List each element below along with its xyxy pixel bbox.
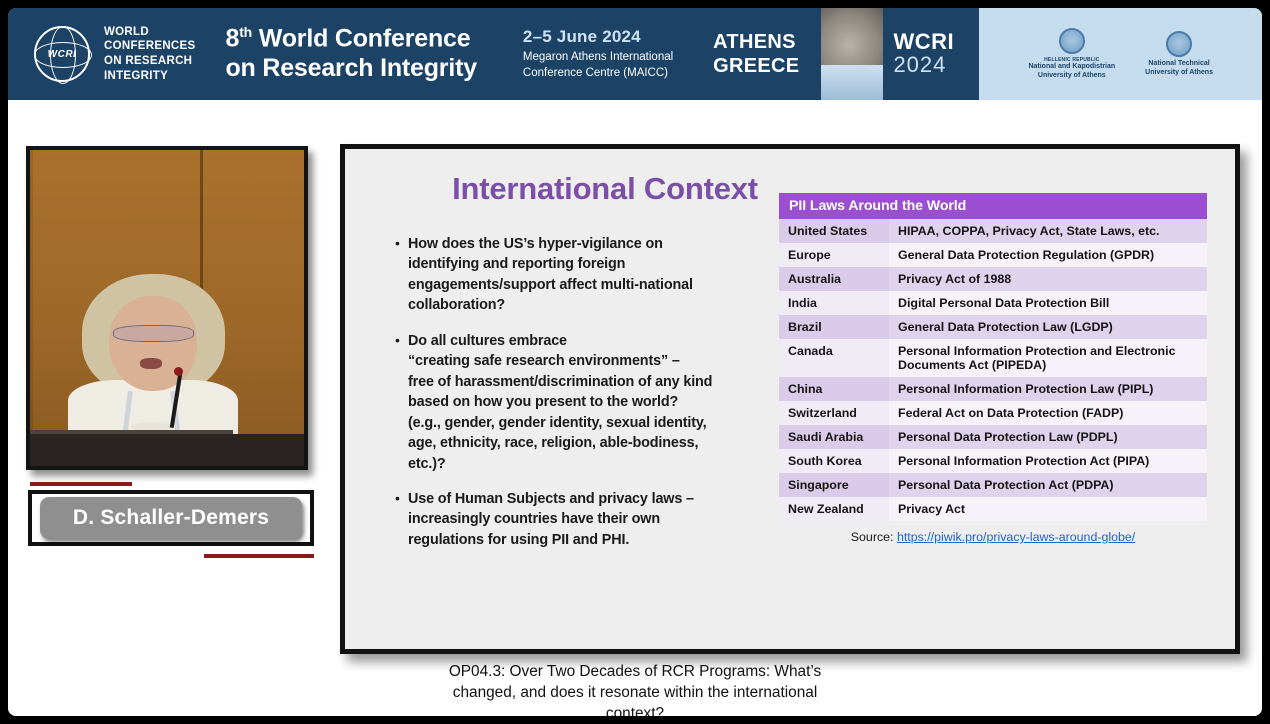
conference-banner: WCRI WORLD CONFERENCES ON RESEARCH INTEG…: [8, 8, 1262, 100]
table-cell-law: Privacy Act of 1988: [889, 267, 1207, 291]
source-link[interactable]: https://piwik.pro/privacy-laws-around-gl…: [897, 530, 1135, 544]
table-row: BrazilGeneral Data Protection Law (LGDP): [779, 315, 1207, 339]
conference-city: ATHENS GREECE: [713, 30, 799, 79]
table-cell-country: Canada: [779, 339, 889, 377]
table-cell-country: United States: [779, 219, 889, 243]
podium: [30, 434, 304, 466]
pii-table-body: United StatesHIPAA, COPPA, Privacy Act, …: [779, 219, 1207, 521]
speaker-figure: [68, 270, 238, 453]
table-cell-country: Saudi Arabia: [779, 425, 889, 449]
table-row: New ZealandPrivacy Act: [779, 497, 1207, 521]
wcri-year-badge: WCRI 2024: [883, 8, 979, 100]
table-cell-law: General Data Protection Law (LGDP): [889, 315, 1207, 339]
table-row: Saudi ArabiaPersonal Data Protection Law…: [779, 425, 1207, 449]
table-row: AustraliaPrivacy Act of 1988: [779, 267, 1207, 291]
accent-rule-top: [30, 482, 132, 486]
wcri-globe-icon: WCRI: [34, 26, 90, 82]
banner-statue-photo: [821, 8, 883, 100]
conference-title-text: World Conference on Research Integrity: [225, 25, 476, 83]
conference-date-block: 2–5 June 2024 Megaron Athens Internation…: [523, 27, 673, 82]
bullet-text: Use of Human Subjects and privacy laws –…: [408, 489, 694, 550]
table-cell-law: Personal Data Protection Law (PDPL): [889, 425, 1207, 449]
table-cell-law: Personal Information Protection Act (PIP…: [889, 449, 1207, 473]
table-row: EuropeGeneral Data Protection Regulation…: [779, 243, 1207, 267]
ntua-name: National Technical University of Athens: [1145, 60, 1213, 78]
table-cell-law: Privacy Act: [889, 497, 1207, 521]
table-cell-country: South Korea: [779, 449, 889, 473]
table-row: United StatesHIPAA, COPPA, Privacy Act, …: [779, 219, 1207, 243]
table-cell-country: Brazil: [779, 315, 889, 339]
table-row: IndiaDigital Personal Data Protection Bi…: [779, 291, 1207, 315]
nkua-name: National and Kapodistrian University of …: [1028, 63, 1115, 81]
speaker-name-box: D. Schaller-Demers: [28, 490, 314, 546]
bullet-text: Do all cultures embrace “creating safe r…: [408, 331, 712, 474]
bullet-marker-icon: •: [395, 331, 408, 474]
table-cell-law: Personal Information Protection Law (PIP…: [889, 377, 1207, 401]
speaker-face: [109, 296, 197, 391]
speaker-video-image: [30, 150, 304, 466]
accent-rule-bottom: [204, 554, 314, 558]
speaker-video-frame[interactable]: [26, 146, 308, 470]
slide-bullet-item: • Use of Human Subjects and privacy laws…: [395, 489, 795, 550]
university-logos: HELLENIC REPUBLIC National and Kapodistr…: [979, 8, 1262, 100]
conference-ordinal-suffix: th: [239, 24, 252, 40]
slide-title: International Context: [395, 171, 815, 207]
table-row: South KoreaPersonal Information Protecti…: [779, 449, 1207, 473]
university-logo-ntua: National Technical University of Athens: [1145, 31, 1213, 78]
speaker-glasses: [113, 325, 195, 341]
session-caption: OP04.3: Over Two Decades of RCR Programs…: [8, 662, 1262, 716]
organization-name: WORLD CONFERENCES ON RESEARCH INTEGRITY: [104, 25, 195, 84]
table-cell-law: Federal Act on Data Protection (FADP): [889, 401, 1207, 425]
speaker-video-panel[interactable]: [26, 146, 314, 476]
app-frame: WCRI WORLD CONFERENCES ON RESEARCH INTEG…: [0, 0, 1270, 724]
wcri-badge-line1: WCRI: [893, 31, 954, 53]
conference-venue: Megaron Athens International Conference …: [523, 50, 673, 82]
conference-ordinal: 8: [225, 25, 239, 53]
bullet-marker-icon: •: [395, 234, 408, 316]
conference-title: 8th World Conference on Research Integri…: [225, 24, 476, 83]
table-cell-country: Singapore: [779, 473, 889, 497]
table-cell-country: Switzerland: [779, 401, 889, 425]
table-cell-law: Digital Personal Data Protection Bill: [889, 291, 1207, 315]
table-row: ChinaPersonal Information Protection Law…: [779, 377, 1207, 401]
pii-table-header: PII Laws Around the World: [779, 193, 1207, 219]
pii-table-source: Source: https://piwik.pro/privacy-laws-a…: [779, 530, 1207, 544]
table-cell-country: China: [779, 377, 889, 401]
table-cell-country: India: [779, 291, 889, 315]
table-row: SingaporePersonal Data Protection Act (P…: [779, 473, 1207, 497]
bullet-text: How does the US’s hyper-vigilance on ide…: [408, 234, 693, 316]
table-cell-country: New Zealand: [779, 497, 889, 521]
ntua-seal-icon: [1166, 31, 1192, 57]
source-label: Source:: [851, 530, 897, 544]
presentation-stage: D. Schaller-Demers International Context…: [8, 100, 1262, 716]
speaker-mouth: [140, 358, 162, 369]
pii-laws-table: PII Laws Around the World United StatesH…: [779, 193, 1207, 544]
nkua-seal-icon: [1059, 28, 1085, 54]
bullet-marker-icon: •: [395, 489, 408, 550]
wcri-globe-label: WCRI: [48, 49, 77, 60]
speaker-name: D. Schaller-Demers: [73, 506, 269, 530]
table-cell-country: Europe: [779, 243, 889, 267]
slide-bullet-item: • Do all cultures embrace “creating safe…: [395, 331, 795, 474]
table-row: SwitzerlandFederal Act on Data Protectio…: [779, 401, 1207, 425]
banner-logo-group: WCRI WORLD CONFERENCES ON RESEARCH INTEG…: [8, 8, 195, 100]
page-surface: WCRI WORLD CONFERENCES ON RESEARCH INTEG…: [8, 8, 1262, 716]
slide-bullet-list: • How does the US’s hyper-vigilance on i…: [395, 234, 795, 565]
slide-panel[interactable]: International Context • How does the US’…: [340, 144, 1240, 654]
table-cell-law: Personal Data Protection Act (PDPA): [889, 473, 1207, 497]
table-cell-law: Personal Information Protection and Elec…: [889, 339, 1207, 377]
slide-bullet-item: • How does the US’s hyper-vigilance on i…: [395, 234, 795, 316]
speaker-name-badge: D. Schaller-Demers: [40, 497, 302, 539]
table-cell-law: General Data Protection Regulation (GPDR…: [889, 243, 1207, 267]
table-cell-country: Australia: [779, 267, 889, 291]
table-row: CanadaPersonal Information Protection an…: [779, 339, 1207, 377]
university-logo-nkua: HELLENIC REPUBLIC National and Kapodistr…: [1028, 28, 1115, 81]
conference-dates: 2–5 June 2024: [523, 27, 673, 47]
wcri-badge-line2: 2024: [893, 53, 946, 76]
table-cell-law: HIPAA, COPPA, Privacy Act, State Laws, e…: [889, 219, 1207, 243]
